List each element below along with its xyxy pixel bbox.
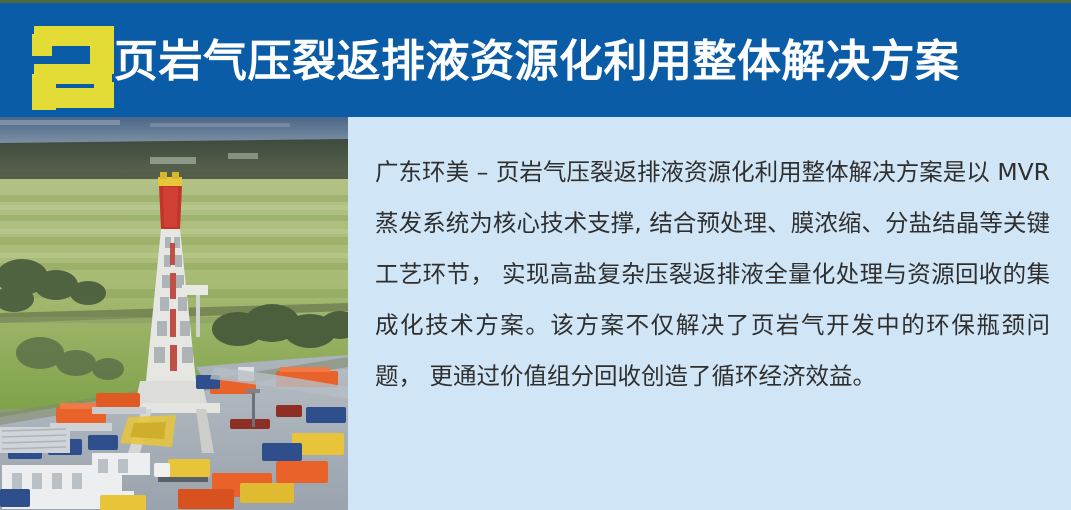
numeral-segment-upper-left [32, 34, 52, 56]
drilling-rig-photo [0, 117, 348, 510]
header-banner: 页岩气压裂返排液资源化利用整体解决方案 [0, 3, 1071, 117]
description-panel: 广东环美 – 页岩气压裂返排液资源化利用整体解决方案是以 MVR 蒸发系统为核心… [348, 117, 1071, 510]
numeral-segment-bottom [34, 88, 114, 108]
section-number-2-icon [32, 26, 114, 108]
banner-title: 页岩气压裂返排液资源化利用整体解决方案 [114, 29, 960, 95]
solution-card: 页岩气压裂返排液资源化利用整体解决方案 [0, 0, 1071, 510]
solution-description-text: 广东环美 – 页岩气压裂返排液资源化利用整体解决方案是以 MVR 蒸发系统为核心… [375, 147, 1050, 402]
